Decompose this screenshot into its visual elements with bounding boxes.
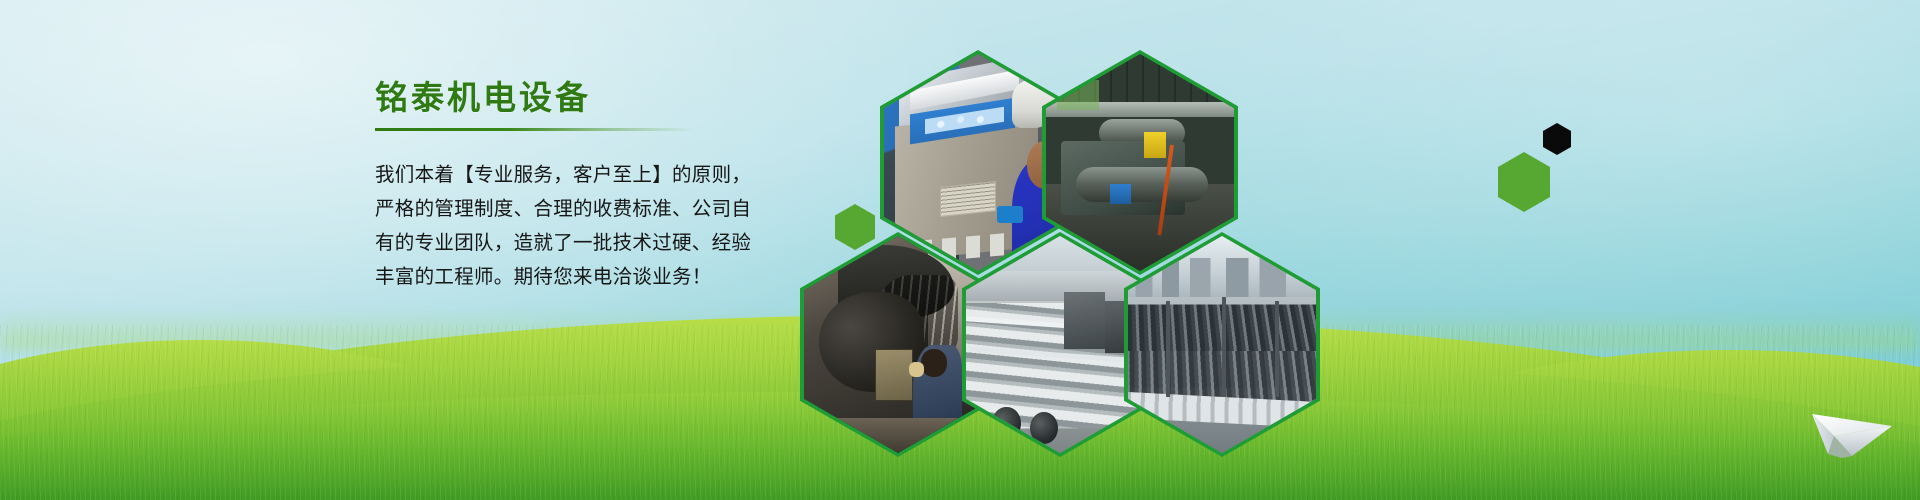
photo-element-yellow-part <box>1144 132 1167 158</box>
page-title: 铭泰机电设备 <box>375 78 815 118</box>
photo-element-worker-hand <box>909 362 924 377</box>
banner-text-block: 铭泰机电设备 我们本着【专业服务，客户至上】的原则， 严格的管理制度、合理的收费… <box>375 78 815 288</box>
paragraph-line: 严格的管理制度、合理的收费标准、公司自 <box>375 199 815 220</box>
gallery-hex-photo-machine-room-image <box>1046 54 1234 271</box>
hero-banner: 铭泰机电设备 我们本着【专业服务，客户至上】的原则， 严格的管理制度、合理的收费… <box>0 0 1920 500</box>
photo-element-pipe-lower <box>1076 167 1208 202</box>
deco-hex-green-small-icon <box>835 204 875 250</box>
photo-element-control-box <box>875 349 913 401</box>
paragraph-line: 我们本着【专业服务，客户至上】的原则， <box>375 165 815 186</box>
paper-plane-icon <box>1808 396 1896 468</box>
photo-element-post-b <box>1222 297 1226 397</box>
photo-element-unit-a <box>1064 292 1105 348</box>
hexagon-photo-gallery <box>790 42 1310 382</box>
photo-machine-room <box>1046 54 1234 271</box>
paragraph-line: 丰富的工程师。期待您来电洽谈业务！ <box>375 267 815 288</box>
photo-element-post-c <box>1275 301 1279 396</box>
photo-element-green-panel <box>1057 80 1098 110</box>
photo-element-spec-label <box>940 181 996 217</box>
photo-element-post-a <box>1166 301 1170 396</box>
title-underline <box>375 128 695 131</box>
photo-element-blue-part <box>1110 184 1131 204</box>
photo-element-worker-head <box>921 349 947 377</box>
paragraph-line: 有的专业团队，造就了一批技术过硬、经验 <box>375 233 815 254</box>
intro-paragraph: 我们本着【专业服务，客户至上】的原则， 严格的管理制度、合理的收费标准、公司自 … <box>375 165 815 288</box>
photo-element-gauge <box>997 206 1023 223</box>
